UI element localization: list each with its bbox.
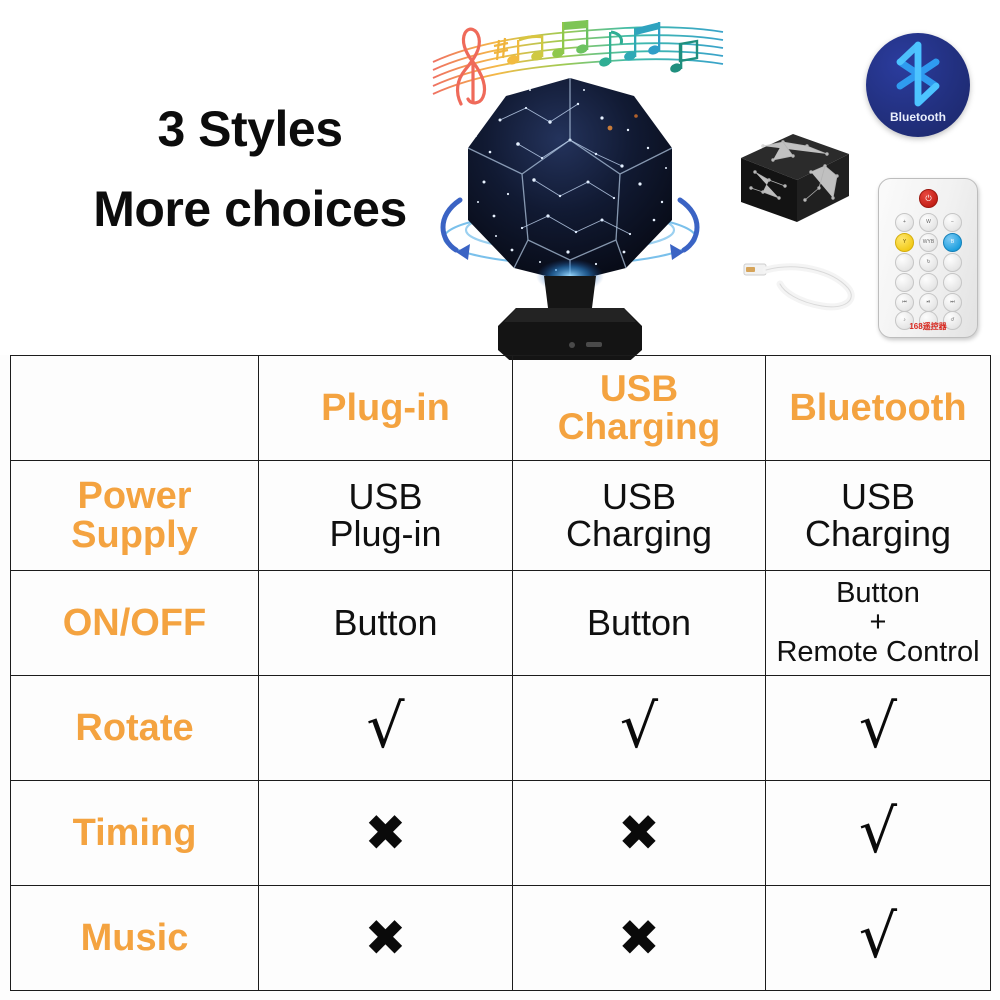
table-row-music: Music ✖ ✖ √ bbox=[11, 886, 991, 991]
cell-onoff-bt-line2: + bbox=[770, 608, 986, 638]
cell-rotate-bluetooth: √ bbox=[766, 676, 991, 781]
cell-onoff-usb-charging: Button bbox=[513, 571, 766, 676]
header-cell-plug-in: Plug-in bbox=[259, 356, 513, 461]
table-header-row: Plug-in USB Charging Bluetooth bbox=[11, 356, 991, 461]
cell-power-bluetooth: USB Charging bbox=[766, 461, 991, 571]
cell-power-usb-line2: Charging bbox=[517, 516, 761, 553]
cell-power-plug-in-line1: USB bbox=[263, 479, 508, 516]
cell-power-bt-line2: Charging bbox=[770, 516, 986, 553]
row-label-power-line1: Power bbox=[15, 477, 254, 516]
header-cell-bluetooth: Bluetooth bbox=[766, 356, 991, 461]
cell-power-plug-in: USB Plug-in bbox=[259, 461, 513, 571]
star-projector-lamp bbox=[430, 70, 710, 360]
cell-onoff-bt-line1: Button bbox=[770, 579, 986, 609]
remote-button-w[interactable]: W bbox=[919, 213, 938, 232]
cell-power-usb-line1: USB bbox=[517, 479, 761, 516]
table-row-power-supply: Power Supply USB Plug-in USB Charging US… bbox=[11, 461, 991, 571]
remote-button-previous[interactable]: ⏮ bbox=[895, 293, 914, 312]
remote-button-next[interactable]: ⏭ bbox=[943, 293, 962, 312]
row-label-power-supply: Power Supply bbox=[11, 461, 259, 571]
row-label-power-line2: Supply bbox=[15, 516, 254, 555]
page-title-line1: 3 Styles bbox=[50, 104, 450, 154]
page-title-line2: More choices bbox=[50, 184, 450, 234]
header-usb-line1: USB bbox=[517, 370, 761, 408]
comparison-table: Plug-in USB Charging Bluetooth Power Sup… bbox=[10, 355, 991, 991]
cell-power-bt-line1: USB bbox=[770, 479, 986, 516]
cell-music-plug-in: ✖ bbox=[259, 886, 513, 991]
cell-onoff-bluetooth: Button + Remote Control bbox=[766, 571, 991, 676]
remote-model-label: 168遥控器 bbox=[879, 321, 977, 332]
cell-music-bluetooth: √ bbox=[766, 886, 991, 991]
constellation-gift-box bbox=[735, 128, 855, 228]
cell-timing-bluetooth: √ bbox=[766, 781, 991, 886]
bluetooth-icon bbox=[866, 37, 970, 111]
cell-timing-usb-charging: ✖ bbox=[513, 781, 766, 886]
remote-button-minus[interactable]: − bbox=[943, 213, 962, 232]
header-cell-usb-charging: USB Charging bbox=[513, 356, 766, 461]
header-cell-empty bbox=[11, 356, 259, 461]
header-usb-line2: Charging bbox=[517, 408, 761, 446]
remote-button-timer-10min[interactable] bbox=[895, 273, 914, 292]
table-row-timing: Timing ✖ ✖ √ bbox=[11, 781, 991, 886]
remote-power-button[interactable]: ⏻ bbox=[919, 189, 938, 208]
cell-rotate-plug-in: √ bbox=[259, 676, 513, 781]
table-row-on-off: ON/OFF Button Button Button + Remote Con… bbox=[11, 571, 991, 676]
cell-music-usb-charging: ✖ bbox=[513, 886, 766, 991]
table-row-rotate: Rotate √ √ √ bbox=[11, 676, 991, 781]
remote-button-b[interactable]: B bbox=[943, 233, 962, 252]
remote-control: ⏻ + W − Y WYB B ↻ ⏮ ⏯ ⏭ ♪ ↺ 168遥控器 bbox=[878, 178, 978, 338]
cell-power-plug-in-line2: Plug-in bbox=[263, 516, 508, 553]
cell-onoff-plug-in: Button bbox=[259, 571, 513, 676]
remote-button-volume-up[interactable] bbox=[919, 273, 938, 292]
cell-onoff-bt-line3: Remote Control bbox=[770, 638, 986, 668]
row-label-music: Music bbox=[11, 886, 259, 991]
cell-power-usb-charging: USB Charging bbox=[513, 461, 766, 571]
row-label-rotate: Rotate bbox=[11, 676, 259, 781]
row-label-on-off: ON/OFF bbox=[11, 571, 259, 676]
cell-rotate-usb-charging: √ bbox=[513, 676, 766, 781]
bluetooth-badge-label: Bluetooth bbox=[866, 110, 970, 124]
remote-button-play-pause[interactable]: ⏯ bbox=[919, 293, 938, 312]
remote-button-rotate[interactable]: ↻ bbox=[919, 253, 938, 272]
hero-banner: 3 Styles More choices bbox=[0, 0, 1000, 355]
usb-cable bbox=[740, 248, 865, 318]
remote-button-flash[interactable] bbox=[943, 253, 962, 272]
row-label-timing: Timing bbox=[11, 781, 259, 886]
remote-button-y[interactable]: Y bbox=[895, 233, 914, 252]
cell-timing-plug-in: ✖ bbox=[259, 781, 513, 886]
remote-button-preset[interactable] bbox=[895, 253, 914, 272]
remote-button-timer-30min[interactable] bbox=[943, 273, 962, 292]
remote-button-plus[interactable]: + bbox=[895, 213, 914, 232]
remote-button-wyb[interactable]: WYB bbox=[919, 233, 938, 252]
bluetooth-badge: Bluetooth bbox=[866, 33, 970, 137]
